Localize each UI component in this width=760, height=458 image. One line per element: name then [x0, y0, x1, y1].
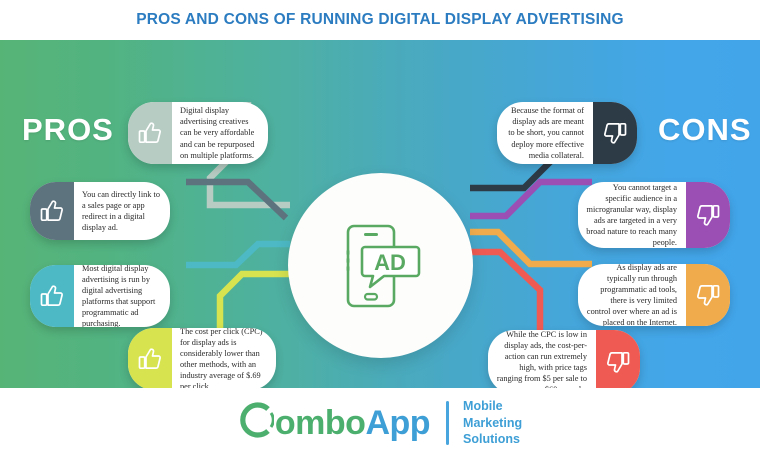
- thumbs-down-icon: [686, 264, 730, 326]
- thumbs-down-icon: [686, 182, 730, 248]
- pro-card-3-text: Most digital display advertising is run …: [74, 265, 170, 327]
- page-title: PROS AND CONS OF RUNNING DIGITAL DISPLAY…: [136, 11, 624, 29]
- pro-card-2[interactable]: You can directly link to a sales page or…: [30, 182, 170, 240]
- con-card-2-text: You cannot target a specific audience in…: [578, 182, 686, 248]
- pro-card-1-text: Digital display advertising creatives ca…: [172, 102, 268, 164]
- thumbs-up-icon: [30, 265, 74, 327]
- pro-card-4[interactable]: The cost per click (CPC) for display ads…: [128, 328, 276, 388]
- logo-text-app: App: [365, 406, 430, 440]
- logo-tagline: Mobile Marketing Solutions: [463, 398, 522, 448]
- logo-wordmark: ombo App: [238, 401, 430, 445]
- pros-heading: PROS: [22, 112, 114, 148]
- pro-card-4-text: The cost per click (CPC) for display ads…: [172, 328, 276, 388]
- brand-logo[interactable]: ombo App Mobile Marketing Solutions: [0, 388, 760, 458]
- tagline-line-3: Solutions: [463, 431, 522, 448]
- pro-card-3[interactable]: Most digital display advertising is run …: [30, 265, 170, 327]
- infographic-body: PROS CONS AD: [0, 40, 760, 388]
- con-card-4[interactable]: While the CPC is low in display ads, the…: [488, 330, 640, 388]
- con-card-1[interactable]: Because the format of display ads are me…: [497, 102, 637, 164]
- pro-card-1[interactable]: Digital display advertising creatives ca…: [128, 102, 268, 164]
- thumbs-up-icon: [128, 328, 172, 388]
- center-icon-label: AD: [374, 250, 406, 275]
- con-card-3-text: As display ads are typically run through…: [578, 264, 686, 326]
- footer: ombo App Mobile Marketing Solutions: [0, 388, 760, 458]
- con-card-1-text: Because the format of display ads are me…: [497, 102, 593, 164]
- logo-text-combo: ombo: [275, 406, 366, 440]
- pro-card-2-text: You can directly link to a sales page or…: [74, 182, 170, 240]
- thumbs-up-icon: [30, 182, 74, 240]
- con-card-2[interactable]: You cannot target a specific audience in…: [578, 182, 730, 248]
- tagline-line-1: Mobile: [463, 398, 522, 415]
- infographic-page: PROS AND CONS OF RUNNING DIGITAL DISPLAY…: [0, 0, 760, 458]
- logo-c-icon: [238, 401, 274, 445]
- thumbs-up-icon: [128, 102, 172, 164]
- tagline-line-2: Marketing: [463, 415, 522, 432]
- center-circle: AD: [288, 173, 473, 358]
- con-card-4-text: While the CPC is low in display ads, the…: [488, 330, 596, 388]
- cons-heading: CONS: [658, 112, 752, 148]
- logo-divider: [446, 401, 449, 445]
- title-bar: PROS AND CONS OF RUNNING DIGITAL DISPLAY…: [0, 0, 760, 40]
- smartphone-ad-icon: AD: [340, 223, 422, 309]
- thumbs-down-icon: [593, 102, 637, 164]
- thumbs-down-icon: [596, 330, 640, 388]
- con-card-3[interactable]: As display ads are typically run through…: [578, 264, 730, 326]
